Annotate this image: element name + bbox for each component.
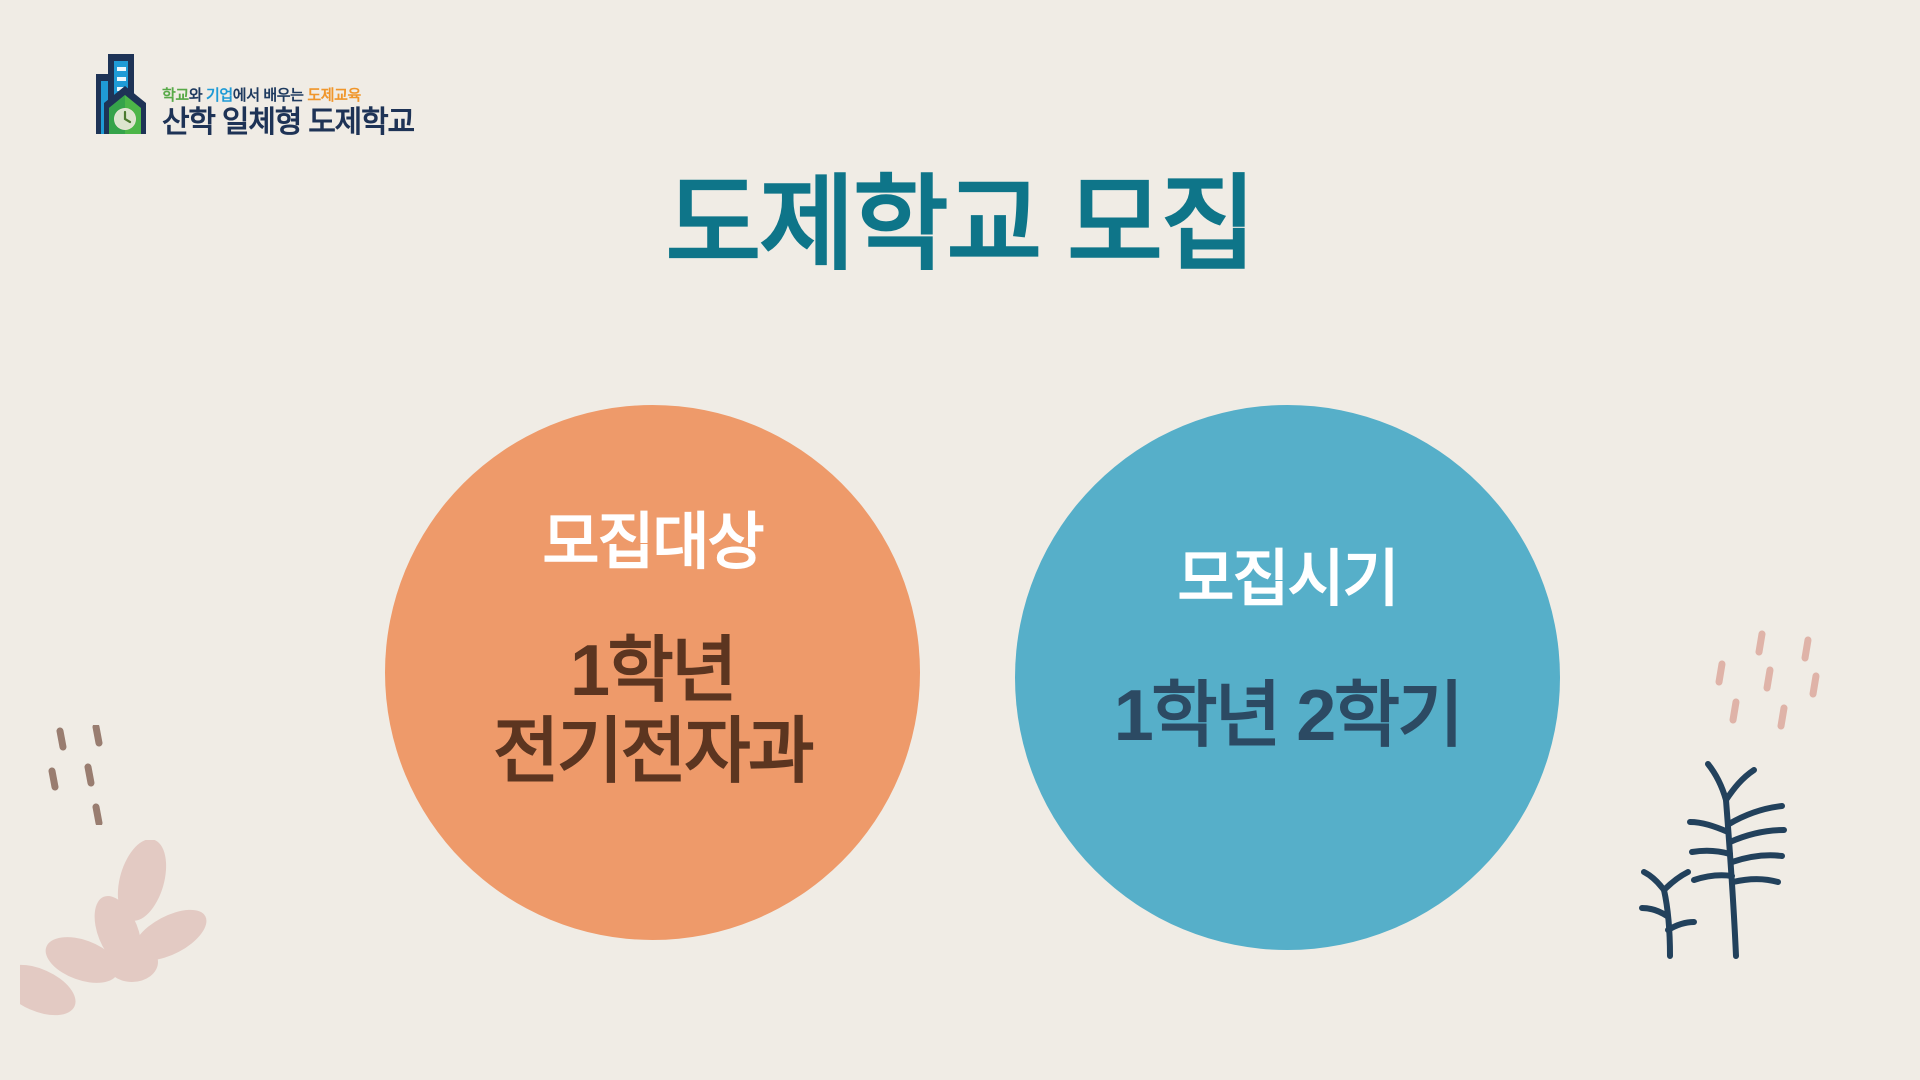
circle-recruitment-period: 모집시기 1학년 2학기	[1015, 405, 1560, 950]
circle-period-heading: 모집시기	[1177, 547, 1397, 612]
circle-target-body: 1학년 전기전자과	[493, 631, 812, 792]
circle-target-heading: 모집대상	[542, 510, 762, 575]
circle-period-body: 1학년 2학기	[1114, 676, 1462, 757]
slide-canvas: 학교와 기업에서 배우는 도제교육 산학 일체형 도제학교 도제학교 모집 모집…	[0, 0, 1920, 1080]
circle-recruitment-target: 모집대상 1학년 전기전자과	[385, 405, 920, 940]
info-circles-group: 모집대상 1학년 전기전자과 모집시기 1학년 2학기	[0, 0, 1920, 1080]
